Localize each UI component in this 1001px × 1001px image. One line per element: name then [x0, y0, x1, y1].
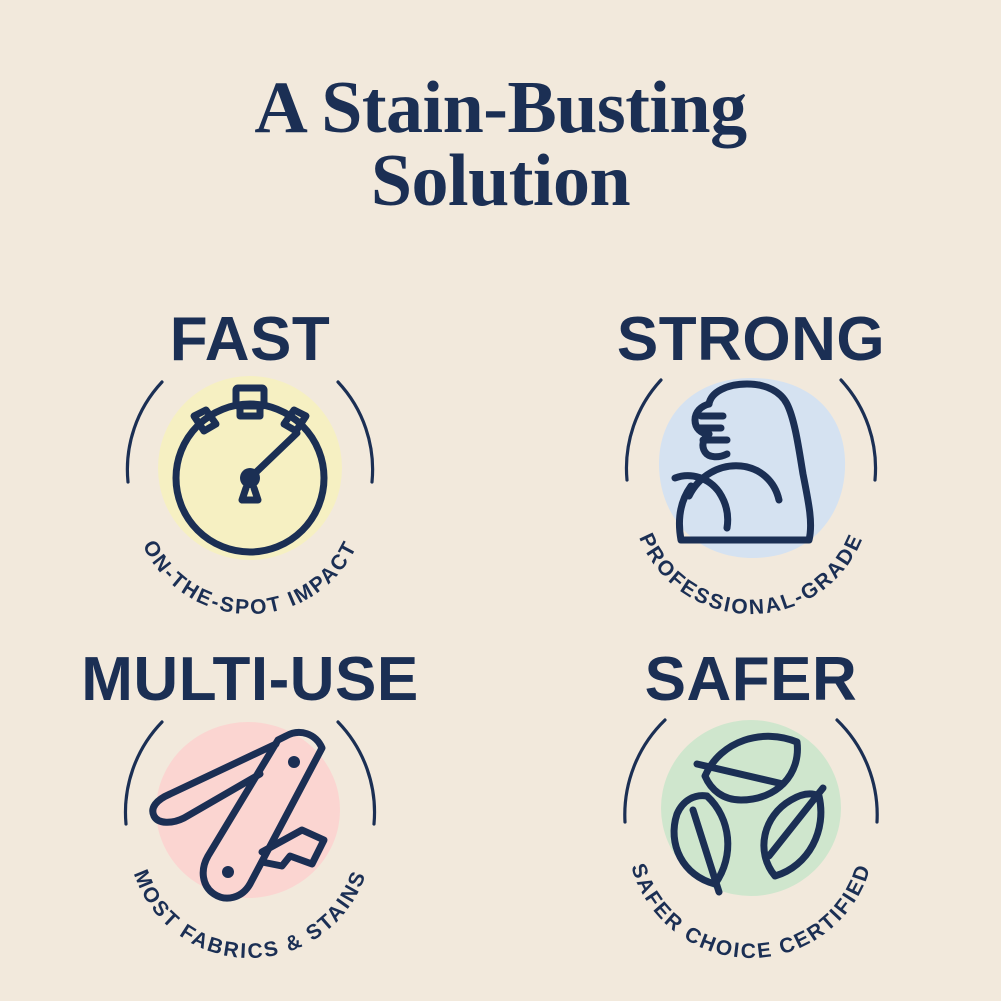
badge-strong-title: STRONG	[617, 305, 885, 374]
badge-multi-use-svg: MULTI-USE MOST FABRICS & STAINS	[50, 640, 450, 980]
infographic-poster: A Stain-Busting Solution FAST	[0, 0, 1001, 1001]
badge-strong-svg: STRONG PROFESSIONAL-GRADE	[551, 300, 951, 640]
badge-safer: SAFER SAFER CHOICE CER	[501, 640, 1001, 980]
badge-fast-svg: FAST ON-	[50, 300, 450, 640]
badge-multi-use-blob	[156, 722, 340, 898]
badge-safer-arc-right	[837, 720, 877, 822]
page-title-line-2: Solution	[0, 145, 1001, 218]
badge-safer-svg: SAFER SAFER CHOICE CER	[551, 640, 951, 980]
badge-multi-use: MULTI-USE MOST FABRICS & STAINS	[0, 640, 501, 980]
page-title: A Stain-Busting Solution	[0, 72, 1001, 217]
badge-strong-arc-right	[841, 380, 876, 480]
badge-strong-arc-left	[626, 380, 661, 480]
badge-fast-arc-right	[338, 382, 373, 482]
badge-strong: STRONG PROFESSIONAL-GRADE	[501, 300, 1001, 640]
badge-multi-use-arc-right	[338, 722, 375, 824]
badge-fast: FAST ON-	[0, 300, 501, 640]
badge-grid: FAST ON-	[0, 300, 1001, 980]
badge-multi-use-title: MULTI-USE	[82, 645, 419, 714]
badge-fast-arc-left	[128, 382, 163, 482]
badge-safer-title: SAFER	[644, 645, 857, 714]
badge-fast-title: FAST	[170, 305, 330, 374]
badge-safer-arc-left	[625, 720, 665, 822]
page-title-line-1: A Stain-Busting	[0, 72, 1001, 145]
